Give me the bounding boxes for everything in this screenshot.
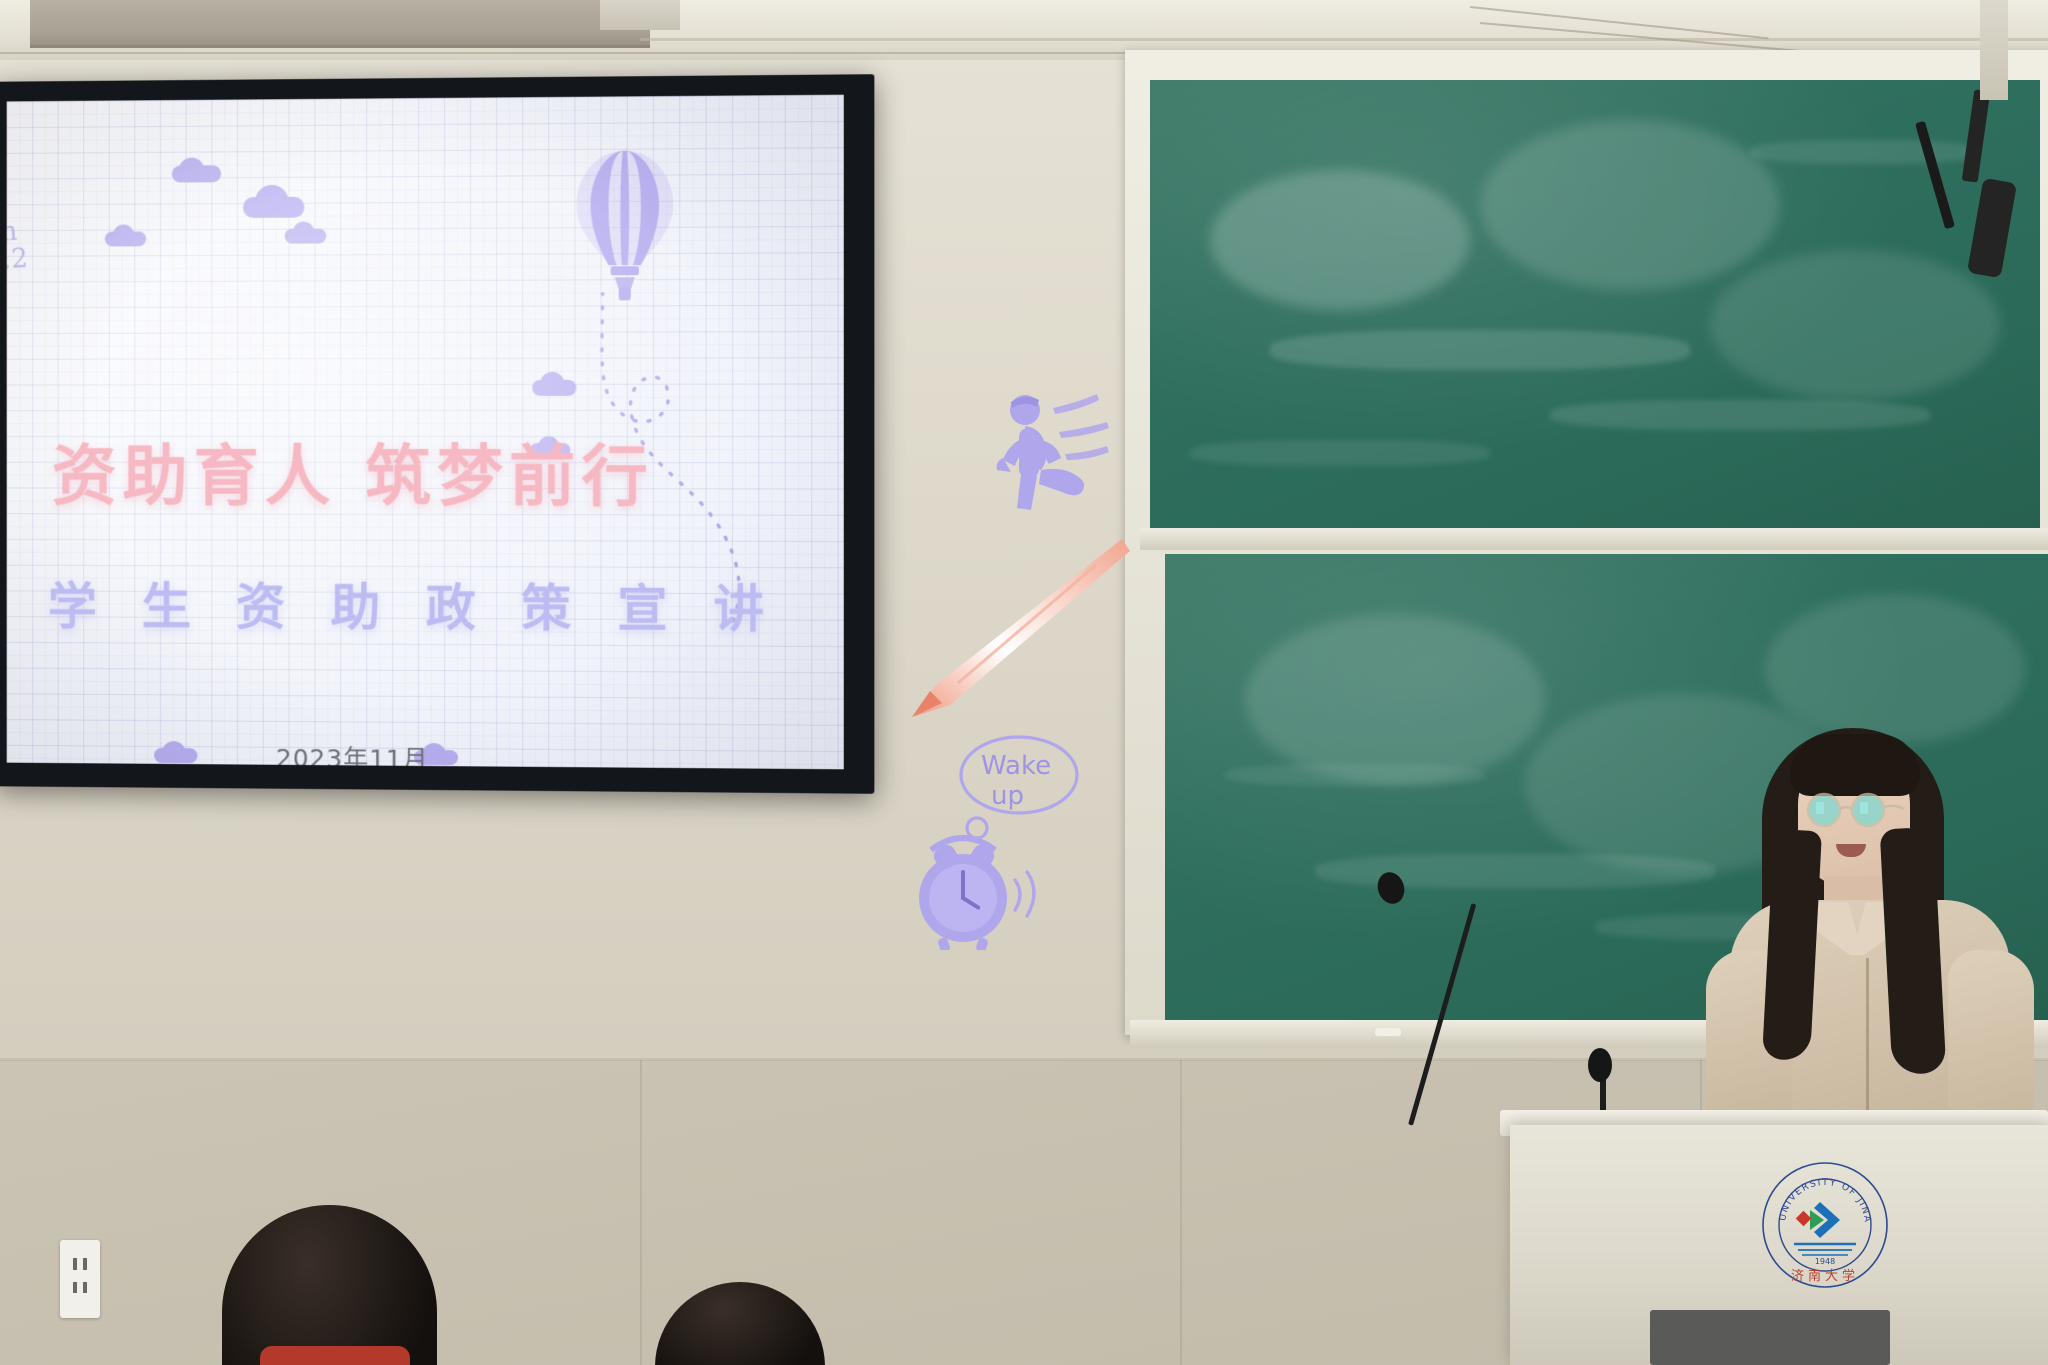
slide-date: 2023年11月 — [7, 737, 704, 769]
podium-equipment-panel — [1650, 1310, 1890, 1365]
chalk-piece — [1375, 1028, 1401, 1036]
university-logo: UNIVERSITY OF JINAN 1948 济南大学 — [1760, 1160, 1890, 1290]
projection-screen: m0,2 — [0, 74, 874, 794]
housing-end-cap — [600, 0, 680, 30]
cloud-icon — [179, 158, 205, 176]
audience-collar — [260, 1346, 410, 1365]
wall-seam — [640, 1060, 642, 1365]
mic-bracket — [1980, 0, 2008, 100]
power-outlet-icon — [60, 1240, 100, 1318]
presenter-fringe — [1790, 734, 1920, 796]
running-person-icon — [995, 388, 1125, 513]
svg-text:UNIVERSITY OF JINAN: UNIVERSITY OF JINAN — [1760, 1160, 1873, 1224]
logo-outer-text: UNIVERSITY OF JINAN — [1760, 1160, 1873, 1224]
bubble-text-line2: up — [991, 781, 1024, 811]
slide-title: 资助育人 筑梦前行 — [52, 423, 690, 520]
presenter — [1690, 720, 2048, 1150]
alarm-clock-icon: Wake up — [915, 720, 1145, 950]
eyeglasses-icon — [1794, 792, 1914, 832]
chalkboard-divider-ledge — [1140, 528, 2048, 550]
lecture-hall-scene: m0,2 — [0, 0, 2048, 1365]
pen-icon — [900, 535, 1130, 725]
logo-chinese-name: 济南大学 — [1791, 1268, 1859, 1284]
chalkboard-upper-panel — [1150, 80, 2040, 535]
cloud-icon — [293, 222, 315, 237]
bubble-text-line1: Wake — [981, 751, 1051, 781]
ceiling-edge-line — [640, 38, 2048, 41]
logo-year: 1948 — [1815, 1257, 1835, 1266]
handwriting-fragment: m0,2 — [7, 217, 29, 275]
projected-slide: m0,2 — [7, 95, 844, 770]
wall-seam — [1180, 1060, 1182, 1365]
cloud-icon — [113, 224, 135, 239]
projection-screen-housing — [30, 0, 650, 48]
secondary-microphone-head — [1588, 1048, 1612, 1082]
slide-subtitle: 学 生 资 助 政 策 宣 讲 — [48, 567, 706, 642]
